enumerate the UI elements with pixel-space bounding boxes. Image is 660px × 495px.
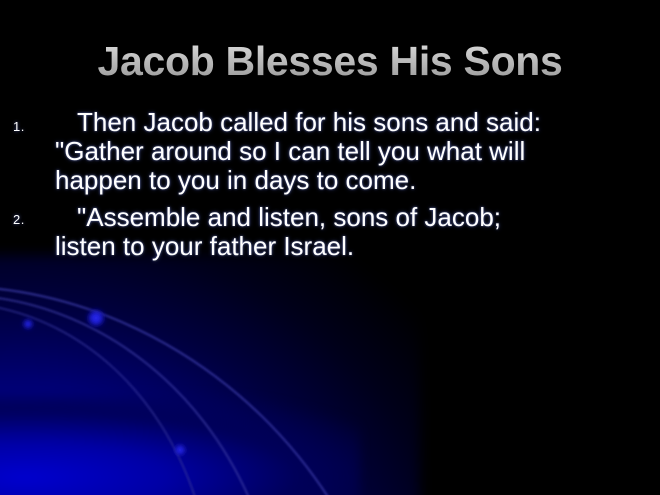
- list-item: 2. "Assemble and listen, sons of Jacob; …: [0, 203, 660, 261]
- list-item-text: "Assemble and listen, sons of Jacob; lis…: [55, 203, 660, 261]
- arc-dot-small-icon: [23, 319, 34, 330]
- blue-corner-glow-icon: [0, 255, 420, 495]
- slide-canvas: Jacob Blesses His Sons 1. Then Jacob cal…: [0, 0, 660, 495]
- list-item: 1. Then Jacob called for his sons and sa…: [0, 108, 660, 195]
- arc-dot-large-icon: [87, 309, 106, 328]
- slide-body-list: 1. Then Jacob called for his sons and sa…: [0, 108, 660, 261]
- list-item-text: Then Jacob called for his sons and said:…: [55, 108, 660, 195]
- blue-corner-glow-secondary-icon: [0, 395, 360, 495]
- arc-dot-medium-icon: [174, 444, 187, 457]
- slide-title: Jacob Blesses His Sons: [0, 38, 660, 84]
- list-item-number: 2.: [13, 212, 43, 227]
- list-item-number: 1.: [13, 119, 43, 134]
